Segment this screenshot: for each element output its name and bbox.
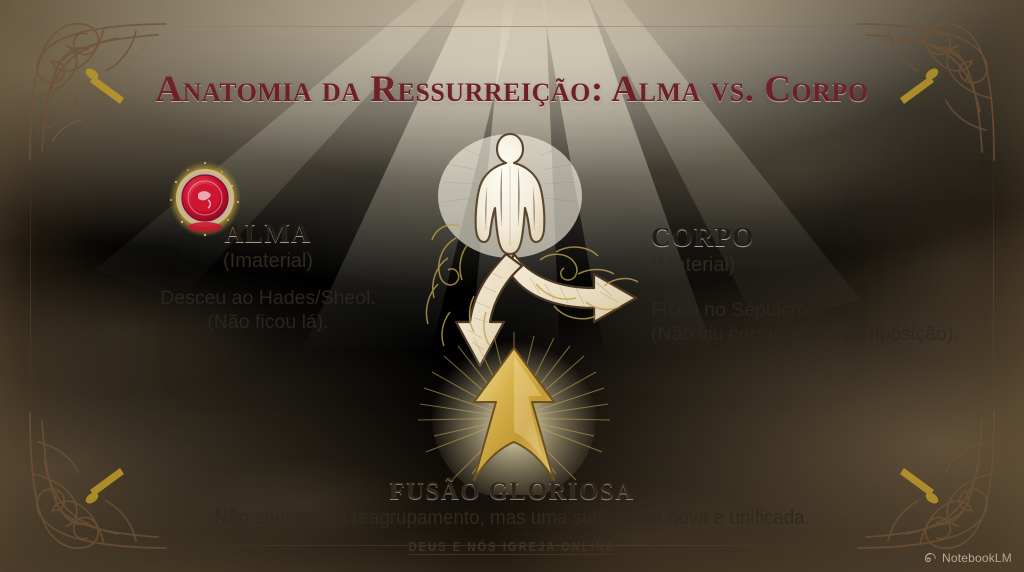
body-remains-arrow <box>508 254 636 322</box>
alma-line-1: Desceu ao Hades/Sheol. <box>118 287 418 311</box>
alma-block: ALMA (Imaterial) Desceu ao Hades/Sheol. … <box>118 218 418 335</box>
corpo-line-1: Ficou no Sepulcro. <box>651 299 1001 323</box>
alma-body: Desceu ao Hades/Sheol. (Não ficou lá). <box>118 287 418 335</box>
page-title: Anatomia da Ressurreição: Alma vs. Corpo <box>0 68 1024 111</box>
corpo-block: CORPO (Material) Ficou no Sepulcro. (Não… <box>651 222 1001 347</box>
corpo-subtitle: (Material) <box>651 254 1001 277</box>
footer-brand: DEUS E NÓS IGREJA ONLINE <box>61 540 962 554</box>
corpo-heading: CORPO <box>651 222 1001 253</box>
glorious-fusion-arrow <box>404 330 624 495</box>
slide-canvas: Anatomia da Ressurreição: Alma vs. Corpo <box>0 0 1024 572</box>
notebooklm-watermark: NotebookLM <box>924 551 1012 565</box>
fusion-subtitle: Não apenas um reagrupamento, mas uma sub… <box>31 507 994 530</box>
corpo-line-2: (Não viu corrupção/decomposição). <box>651 323 1001 347</box>
alma-subtitle: (Imaterial) <box>118 250 418 273</box>
notebook-spiral-icon <box>924 552 937 565</box>
fusion-heading: FUSÃO GLORIOSA <box>0 478 1024 506</box>
alma-heading: ALMA <box>118 218 418 249</box>
corpo-body: Ficou no Sepulcro. (Não viu corrupção/de… <box>651 299 1001 347</box>
alma-line-2: (Não ficou lá). <box>118 311 418 335</box>
notebooklm-label: NotebookLM <box>942 551 1012 565</box>
